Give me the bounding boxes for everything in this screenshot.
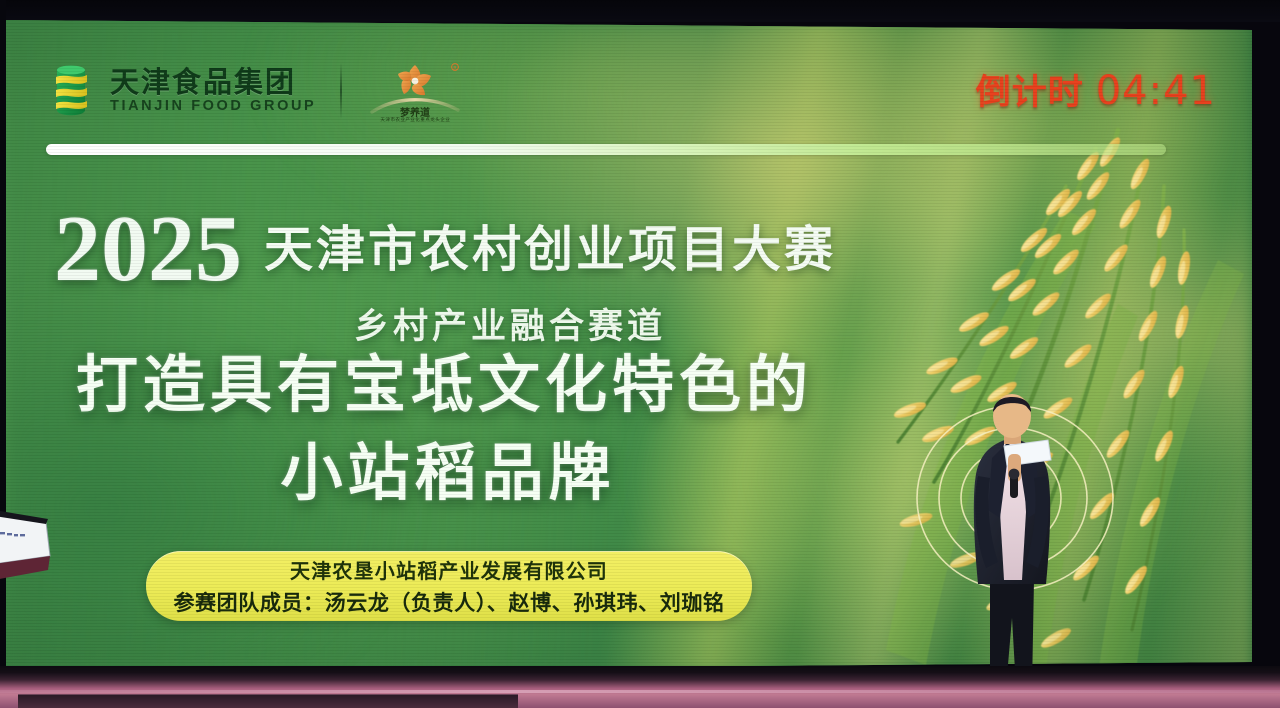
contest-title-line: 2025 天津市农村创业项目大赛 bbox=[54, 206, 954, 292]
contest-title-block: 2025 天津市农村创业项目大赛 乡村产业融合赛道 bbox=[54, 206, 954, 349]
stage-floor-highlight bbox=[0, 690, 1280, 693]
contest-year: 2025 bbox=[54, 206, 242, 292]
tianjin-food-group-logo-icon bbox=[48, 62, 94, 120]
countdown-label: 倒计时 bbox=[976, 64, 1084, 115]
tianjin-food-group-wordmark: 天津食品集团 TIANJIN FOOD GROUP bbox=[110, 69, 316, 114]
contest-name: 天津市农村创业项目大赛 bbox=[264, 210, 836, 292]
svg-text:R: R bbox=[454, 66, 458, 72]
podium-laptop bbox=[0, 508, 58, 590]
company-name-en: TIANJIN FOOD GROUP bbox=[110, 99, 316, 114]
white-divider-bar bbox=[46, 144, 1166, 155]
company-name: 天津农垦小站稻产业发展有限公司 bbox=[290, 555, 608, 584]
project-title-line-2: 小站稻品牌 bbox=[68, 430, 828, 518]
project-title-line-1: 打造具有宝坻文化特色的 bbox=[68, 342, 828, 430]
flower-emblem-subtitle: 天津市农业产业化重点龙头企业 bbox=[366, 117, 464, 123]
logo-separator bbox=[340, 63, 342, 119]
screenshot-root: 天津食品集团 TIANJIN FOOD GROUP bbox=[0, 0, 1280, 708]
company-name-cn: 天津食品集团 bbox=[110, 69, 316, 98]
project-title-block: 打造具有宝坻文化特色的 小站稻品牌 bbox=[68, 342, 828, 518]
info-banner: 天津农垦小站稻产业发展有限公司 参赛团队成员：汤云龙（负责人）、赵博、孙琪玮、刘… bbox=[146, 551, 752, 621]
header-logos: 天津食品集团 TIANJIN FOOD GROUP bbox=[48, 58, 464, 124]
countdown-time: 04:41 bbox=[1096, 68, 1216, 114]
stage-floor-panel bbox=[18, 694, 518, 708]
countdown-timer: 倒计时 04:41 bbox=[976, 64, 1216, 115]
presenter-with-microphone bbox=[952, 392, 1072, 692]
auditorium-left-dark bbox=[0, 0, 6, 708]
flower-emblem-logo-icon: R 梦养道 天津市农业产业化重点龙头企业 bbox=[366, 58, 464, 124]
team-members: 参赛团队成员：汤云龙（负责人）、赵博、孙琪玮、刘珈铭 bbox=[173, 587, 724, 617]
auditorium-ceiling-dark bbox=[0, 0, 1280, 22]
